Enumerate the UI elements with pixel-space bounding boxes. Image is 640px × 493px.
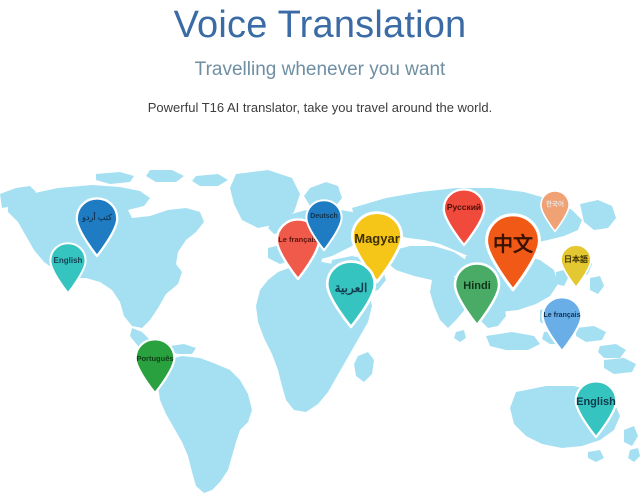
world-map: كتب أردوEnglishPortuguêsLe françaisDeuts… xyxy=(0,160,640,493)
map-marker-icon xyxy=(324,260,378,328)
map-marker-icon xyxy=(573,380,619,438)
page-root: Voice Translation Travelling whenever yo… xyxy=(0,0,640,493)
page-subtitle: Travelling whenever you want xyxy=(0,48,640,82)
map-marker-icon xyxy=(540,296,584,352)
pin-korean-japan-faded[interactable]: 한국어 xyxy=(539,190,571,232)
map-marker-icon xyxy=(304,199,344,251)
pin-hindi-india[interactable]: Hindi xyxy=(452,262,502,326)
pin-english-usa[interactable]: English xyxy=(48,242,88,294)
map-marker-icon xyxy=(452,262,502,326)
map-marker-icon xyxy=(133,338,177,394)
map-marker-icon xyxy=(441,188,487,246)
map-marker-icon xyxy=(539,190,571,232)
pin-english-australia[interactable]: English xyxy=(573,380,619,438)
map-marker-icon xyxy=(559,244,593,288)
header: Voice Translation Travelling whenever yo… xyxy=(0,0,640,117)
page-tagline: Powerful T16 AI translator, take you tra… xyxy=(0,82,640,117)
map-marker-icon xyxy=(48,242,88,294)
pin-deutsch-germany[interactable]: Deutsch xyxy=(304,199,344,251)
pin-russian-russia[interactable]: Русский xyxy=(441,188,487,246)
pin-le-francais-sea[interactable]: Le français xyxy=(540,296,584,352)
page-title: Voice Translation xyxy=(0,0,640,48)
pin-japanese-japan[interactable]: 日本語 xyxy=(559,244,593,288)
pin-portugues-brazil[interactable]: Português xyxy=(133,338,177,394)
pin-arabic-middle-east[interactable]: العربية xyxy=(324,260,378,328)
